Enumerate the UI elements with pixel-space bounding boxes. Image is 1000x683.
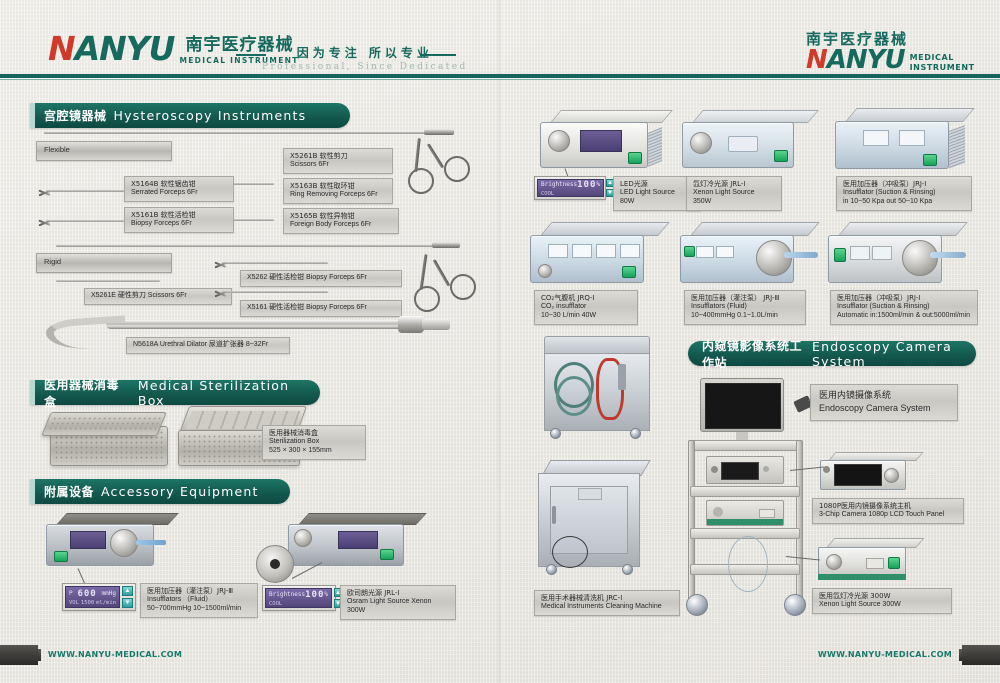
- accessory-en-0: Insufflators （Fluid）: [147, 596, 251, 605]
- page-spine: [498, 0, 504, 683]
- rigid-handle-ring-2: [450, 274, 476, 300]
- light-source-display: [759, 509, 775, 518]
- cleaner2-label: [578, 488, 602, 500]
- rigid-handle-arm-2: [433, 259, 450, 286]
- led-lcd-label2: COOL: [541, 191, 554, 197]
- r1-en-2: Insufflator (Suction & Rinsing): [843, 189, 965, 198]
- scope-ring-handle: [408, 136, 488, 206]
- caption-endoscopy-camera-system: 医用内镜摄像系统 Endoscopy Camera System: [810, 384, 958, 421]
- lcd-key-down[interactable]: ▼: [122, 598, 133, 608]
- co2-display-4: [620, 244, 640, 258]
- instrument-shaft-x5262: [222, 262, 328, 264]
- logo-right-letter-n: N: [806, 45, 827, 75]
- accessory-spec-0: 50~700mmHg 10~1500ml/min: [147, 605, 251, 614]
- item-code-1: X5164B: [131, 180, 158, 188]
- slogan-rule-right: [420, 54, 456, 56]
- rigid-handle-arm-1: [420, 254, 427, 290]
- item-cn-1: 软性锯齿钳: [161, 180, 196, 188]
- device-co2-insufflator: [530, 222, 670, 290]
- logo-right-line2: INSTRUMENT: [910, 63, 975, 73]
- caption-insufflator-suction-1: 医用加压器（冲吸泵）JRJ-Ⅰ Insufflator (Suction & R…: [836, 176, 972, 211]
- footer-right: WWW.NANYU-MEDICAL.COM 56: [811, 648, 980, 661]
- caption-insufflator-fluid-pump: 医用加压器（灌注泵） JRJ-Ⅲ Insufflators (Fluid) 10…: [684, 290, 806, 325]
- ccu-button[interactable]: [763, 466, 769, 472]
- accessory-spec-1: 300W: [347, 607, 449, 616]
- scope-connector: [424, 129, 454, 135]
- caption-cleaning-machine: 医用手术器械清洗机 JRC-Ⅰ Medical Instruments Clea…: [534, 590, 680, 616]
- lcd-callout-led: Brightness100% COOL ▲▼: [534, 176, 606, 200]
- r1-spec-0: 80W: [620, 198, 694, 207]
- r1-cn-1: 氙灯冷光源 JRL-Ⅰ: [693, 180, 775, 189]
- light-power-button[interactable]: [380, 549, 394, 560]
- r1-cn-0: LED光源: [620, 180, 694, 189]
- section-banner-accessory: 附属设备 Accessory Equipment: [30, 479, 290, 504]
- device-lcd: [70, 531, 106, 549]
- trolley-shelf-1: [690, 440, 800, 451]
- device-insufflator-fluid-pump: [680, 222, 830, 290]
- light-source-port: [713, 507, 723, 517]
- ins2-display-1: [850, 246, 870, 260]
- cleaner1-hose-coiled-2: [556, 376, 592, 416]
- banner-tab-3: [30, 479, 35, 504]
- handle-ring-1: [408, 168, 434, 194]
- section4-title-cn: 内窥镜影像系统工作站: [702, 337, 805, 371]
- device-led-light-source: [540, 110, 670, 174]
- device-power-button[interactable]: [54, 551, 68, 562]
- slogan-chinese: 因为专注 所以专业: [262, 44, 468, 61]
- endoscopy-trolley: [684, 378, 816, 622]
- sterilization-size: 525 × 300 × 155mm: [269, 447, 359, 456]
- banner-tab-2: [30, 380, 35, 405]
- item-code-2: X5163B: [290, 182, 317, 190]
- co2-display-3: [596, 244, 616, 258]
- r1-en-0: LED Light Source: [620, 189, 694, 198]
- trolley-post-left: [688, 440, 695, 602]
- rigid-item-text-3: N5618A Urethral Dilator 尿道扩张器 8~32Fr: [133, 341, 283, 350]
- xenon-light-port: [690, 132, 712, 154]
- sterilization-cn: 医用器械消毒盒: [269, 429, 359, 438]
- r2-spec-2: Automatic in:1500ml/min & out:5000ml/min: [837, 312, 971, 321]
- accessory-cn-0: 医用加压器（灌注泵）JRJ-Ⅲ: [147, 587, 251, 596]
- item-en-4: Foreign Body Forceps 6Fr: [290, 221, 392, 230]
- caption-insufflator-suction-2: 医用加压器（冲吸泵）JRJ-Ⅰ Insufflator (Suction & R…: [830, 290, 978, 325]
- section2-title-en: Medical Sterilization Box: [138, 378, 320, 408]
- group-label-flexible: Flexible: [36, 141, 172, 161]
- lcd-label2-0: VOL: [69, 600, 79, 606]
- trolley-post-right: [796, 440, 803, 602]
- rigid-scope-shaft: [56, 245, 444, 247]
- slogan-english: Professional, Since Dedicated: [262, 62, 468, 72]
- ccu-screen: [721, 462, 759, 480]
- accessory-en-1: Osram Light Source Xenon: [347, 598, 449, 607]
- handle-ring-2: [444, 156, 470, 182]
- cam-console-port: [884, 468, 899, 483]
- led-lcd-screen: Brightness100% COOL: [537, 179, 604, 197]
- rigid-item-text-0: X5262 硬性活检钳 Biopsy Forceps 6Fr: [247, 274, 395, 283]
- lcd-unit2-0: ml/min: [96, 600, 116, 606]
- co2-display-2: [572, 244, 592, 258]
- ccu-knob: [711, 466, 718, 473]
- device-fluid-port: [136, 540, 166, 545]
- device-insufflator-fluid: [46, 513, 176, 573]
- cleaner2-handle: [552, 506, 556, 524]
- co2-top: [540, 222, 670, 236]
- xenon300-port: [826, 554, 842, 570]
- logo-right-line1: MEDICAL: [910, 53, 975, 63]
- rigid-item-text-1: X5261E 硬性剪刀 Scissors 6Fr: [91, 292, 225, 301]
- cleaner2-caster-1: [546, 564, 557, 575]
- pump-display-2: [716, 246, 734, 258]
- instrument-shaft-serrated: [46, 190, 124, 192]
- section-banner-sterilization: 医用器械消毒盒 Medical Sterilization Box: [30, 380, 320, 405]
- logo-letter-n: N: [48, 29, 75, 68]
- sterilization-en: Sterilization Box: [269, 438, 359, 447]
- caption-xenon-light-source: 氙灯冷光源 JRL-Ⅰ Xenon Light Source 350W: [686, 176, 782, 211]
- caption-co2-insufflator: CO₂气腹机 JRQ-Ⅰ CO₂ insufflator 10~30 L/min…: [534, 290, 638, 325]
- led-lcd: [580, 130, 622, 152]
- caption-x5163b: X5163B 软性取环钳 Ring Removing Forceps 6Fr: [283, 178, 393, 204]
- instrument-shaft-biopsy-flex: [46, 220, 124, 222]
- brand-logo-right: 南宇医疗器械 NANYU MEDICAL INSTRUMENT: [806, 28, 975, 73]
- ins2-roller-head: [902, 240, 938, 276]
- box-lid: [41, 412, 167, 436]
- cleaner1-caster-1: [550, 428, 561, 439]
- cleaner1-spray-gun: [618, 364, 626, 390]
- caption-x5161b: X5161B 软性活检钳 Biopsy Forceps 6Fr: [124, 207, 234, 233]
- adapter-center: [270, 559, 280, 569]
- lcd-label-1: Brightness: [269, 591, 305, 598]
- r2-en-0: CO₂ insufflator: [541, 303, 631, 312]
- footer-url-right[interactable]: WWW.NANYU-MEDICAL.COM: [818, 650, 952, 659]
- cleaner2-caster-2: [622, 564, 633, 575]
- device-insufflator-suction-1: [835, 108, 975, 176]
- item-en-1: Serrated Forceps 6Fr: [131, 189, 227, 198]
- cleaner1-caster-2: [630, 428, 641, 439]
- xenon300-display: [866, 558, 884, 569]
- ins1-top: [845, 108, 975, 122]
- item-en-0: Scissors 6Fr: [290, 161, 386, 170]
- footer-bar-right: [962, 645, 1000, 665]
- device-knob: [110, 529, 138, 557]
- lcd-key-up[interactable]: ▲: [122, 586, 133, 596]
- r1-spec-2: in 10~50 Kpa out 50~10 Kpa: [843, 198, 965, 207]
- ins2-power-button[interactable]: [834, 248, 846, 262]
- sterilization-box-closed: [46, 412, 170, 468]
- device-xenon-300w: [818, 538, 930, 584]
- caption-n5618a: N5618A Urethral Dilator 尿道扩张器 8~32Fr: [126, 337, 290, 354]
- caption-x5261e: X5261E 硬性剪刀 Scissors 6Fr: [84, 288, 232, 305]
- ins2-tubing: [930, 252, 966, 258]
- r2-cn-2: 医用加压器（冲吸泵）JRJ-Ⅰ: [837, 294, 971, 303]
- caption-x5262: X5262 硬性活检钳 Biopsy Forceps 6Fr: [240, 270, 402, 287]
- item-cn-3: 软性活检钳: [161, 211, 196, 219]
- logo-letters-anyu: ANYU: [75, 29, 175, 68]
- camera-en-1: 3-Chip Camera 1080p LCD Touch Panel: [819, 511, 957, 520]
- lcd-callout-osram: Brightness100% COOL ▲▼: [262, 585, 336, 611]
- led-lcd-label: Brightness: [541, 181, 577, 188]
- monitor-stand-neck: [736, 432, 748, 440]
- device-insufflator-suction-2: [828, 222, 978, 290]
- pump-roller-head: [756, 240, 792, 276]
- device-1080p-camera-console: [820, 452, 930, 494]
- camera-en-2: Xenon Light Source 300W: [819, 601, 945, 610]
- section-banner-hysteroscopy: 宫腔镜器械 Hysteroscopy Instruments: [30, 103, 350, 128]
- caption-sterilization-box: 医用器械消毒盒 Sterilization Box 525 × 300 × 15…: [262, 425, 366, 460]
- handle-arm-2: [427, 143, 444, 168]
- r2-spec-0: 10~30 L/min 40W: [541, 312, 631, 321]
- light-output-port: [294, 529, 312, 547]
- light-device-lcd: [338, 531, 378, 549]
- device-xenon-light-source: [682, 110, 817, 174]
- item-cn-4: 软性异物钳: [320, 212, 355, 220]
- slogan-block: 因为专注 所以专业 Professional, Since Dedicated: [262, 44, 468, 72]
- lcd-unit-1: %: [324, 591, 328, 598]
- ins1-vent: [949, 125, 965, 169]
- dilator-hub: [422, 319, 450, 330]
- pump-tubing: [784, 252, 818, 258]
- r1-cn-2: 医用加压器（冲吸泵）JRJ-Ⅰ: [843, 180, 965, 189]
- pump-display-1: [696, 246, 714, 258]
- monitor-screen: [705, 383, 781, 429]
- lcd-unit-0: mmHg: [102, 590, 116, 597]
- xenon300-power-button[interactable]: [888, 557, 900, 569]
- caption-x5164b: X5164B 软性锯齿钳 Serrated Forceps 6Fr: [124, 176, 234, 202]
- caption-xenon-300w: 医用氙灯冷光源 300W Xenon Light Source 300W: [812, 588, 952, 614]
- caption-x5165b: X5165B 软性异物钳 Foreign Body Forceps 6Fr: [283, 208, 399, 234]
- dilator-body: [106, 320, 406, 329]
- r2-cn-1: 医用加压器（灌注泵） JRJ-Ⅲ: [691, 294, 799, 303]
- group-label-rigid: Rigid: [36, 253, 172, 273]
- r2-spec-1: 10~400mmHg 0.1~1.0L/min: [691, 312, 799, 321]
- section-title-en: Hysteroscopy Instruments: [114, 108, 307, 123]
- lcd-label2-1: COOL: [269, 601, 282, 607]
- trolley-caster-right: [784, 594, 806, 616]
- trolley-light-cable: [728, 536, 768, 592]
- accessory-cn-1: 欧司朗光源 JRL-Ⅰ: [347, 589, 449, 598]
- rigid-scope-ring-handle: [412, 250, 492, 320]
- item-cn-0: 软性剪刀: [320, 152, 348, 160]
- cleaner2-hose: [552, 536, 588, 568]
- lcd-screen: P600mmHg VOL1500ml/min: [65, 586, 120, 608]
- light-source-strip: [707, 519, 783, 525]
- r2-en-2: Insufflator (Suction & Rinsing): [837, 303, 971, 312]
- light-guide-adapter: [256, 545, 294, 583]
- camera-en-0: Endoscopy Camera System: [819, 403, 949, 415]
- xenon-control-panel: [728, 136, 758, 152]
- rigid-handle-ring-1: [414, 286, 440, 312]
- co2-gas-port: [538, 264, 552, 278]
- device-osram-light-source: [288, 513, 428, 573]
- dilator-curved-tip: [45, 315, 127, 352]
- handle-arm-1: [414, 138, 420, 172]
- cleaning-machine-open: [538, 336, 658, 446]
- lcd-value-0: 600: [77, 589, 96, 599]
- section2-title-cn: 医用器械消毒盒: [44, 376, 131, 410]
- cleaning-en: Medical Instruments Cleaning Machine: [541, 603, 673, 612]
- lcd-label-0: P: [69, 590, 73, 597]
- led-lcd-unit: %: [596, 181, 600, 188]
- camera-cn-1: 1080P医用内镜摄像系统主机: [819, 502, 957, 511]
- camera-cn-2: 医用氙灯冷光源 300W: [819, 592, 945, 601]
- footer-url-left[interactable]: WWW.NANYU-MEDICAL.COM: [48, 650, 182, 659]
- lcd-value2-0: 1500: [81, 600, 94, 606]
- caption-osram: 欧司朗光源 JRL-Ⅰ Osram Light Source Xenon 300…: [340, 585, 456, 620]
- trolley-light-source: [706, 500, 784, 526]
- xenon-power-button[interactable]: [774, 150, 788, 162]
- item-code-4: X5165B: [290, 212, 317, 220]
- banner-tab: [30, 103, 35, 128]
- lid-perforations: [47, 416, 161, 432]
- r1-spec-1: 350W: [693, 198, 775, 207]
- item-cn-2: 软性取环钳: [320, 182, 355, 190]
- section4-title-en: Endoscopy Camera System: [812, 339, 976, 369]
- rigid-scope-connector: [432, 242, 460, 248]
- section-title-cn: 宫腔镜器械: [44, 107, 107, 124]
- cleaning-machine-closed: [538, 460, 662, 584]
- lcd-keys[interactable]: ▲▼: [122, 586, 133, 608]
- caption-1080p-camera: 1080P医用内镜摄像系统主机 3-Chip Camera 1080p LCD …: [812, 498, 964, 524]
- item-en-2: Ring Removing Forceps 6Fr: [290, 191, 386, 200]
- cam-console-button[interactable]: [823, 466, 830, 473]
- osram-lcd-screen: Brightness100% COOL: [265, 588, 332, 608]
- logo-right-letters: ANYU: [827, 45, 905, 75]
- item-code-0: X5261B: [290, 152, 317, 160]
- pump-power-button[interactable]: [684, 246, 695, 257]
- ins1-display-1: [863, 130, 889, 146]
- page-header: NANYU 南宇医疗器械 MEDICAL INSTRUMENT 因为专注 所以专…: [0, 0, 1000, 84]
- section-banner-camera-system: 内窥镜影像系统工作站 Endoscopy Camera System: [688, 341, 976, 366]
- cleaning-cn: 医用手术器械清洗机 JRC-Ⅰ: [541, 594, 673, 603]
- section3-title-cn: 附属设备: [44, 483, 94, 500]
- xenon300-strip: [818, 574, 906, 580]
- trolley-monitor: [700, 378, 784, 432]
- item-en-3: Biopsy Forceps 6Fr: [131, 220, 227, 229]
- trolley-caster-left: [686, 594, 708, 616]
- pump-top: [690, 222, 820, 236]
- instrument-shaft-x5261e: [56, 280, 160, 282]
- trolley-shelf-2: [690, 486, 800, 497]
- led-vent: [648, 127, 662, 167]
- led-knob: [548, 130, 570, 152]
- dilator-collar: [398, 316, 424, 333]
- led-power-button[interactable]: [628, 152, 642, 164]
- header-divider: [0, 74, 1000, 78]
- instrument-shaft-x5161: [222, 291, 328, 293]
- co2-power-button[interactable]: [622, 266, 636, 278]
- camera-cn-0: 医用内镜摄像系统: [819, 391, 949, 403]
- item-code-3: X5161B: [131, 211, 158, 219]
- ins2-top: [838, 222, 968, 236]
- r2-cn-0: CO₂气腹机 JRQ-Ⅰ: [541, 294, 631, 303]
- footer-bar-left: [0, 645, 38, 665]
- led-lcd-value: 100: [577, 180, 596, 190]
- r1-en-1: Xenon Light Source: [693, 189, 775, 198]
- r2-en-1: Insufflators (Fluid): [691, 303, 799, 312]
- caption-insufflator-fluid: 医用加压器（灌注泵）JRJ-Ⅲ Insufflators （Fluid） 50~…: [140, 583, 258, 618]
- camera-control-unit: [706, 456, 784, 484]
- header-divider-thin: [0, 79, 1000, 80]
- ins1-power-button[interactable]: [923, 154, 937, 166]
- footer-left: 55 WWW.NANYU-MEDICAL.COM: [20, 648, 189, 661]
- lcd-callout-insufflator: P600mmHg VOL1500ml/min ▲▼: [62, 583, 136, 611]
- cam-console-screen: [834, 464, 882, 486]
- ins1-display-2: [899, 130, 925, 146]
- catalog-page: NANYU 南宇医疗器械 MEDICAL INSTRUMENT 因为专注 所以专…: [0, 0, 1000, 683]
- flexible-scope-shaft: [44, 132, 434, 134]
- caption-x5261b: X5261B 软性剪刀 Scissors 6Fr: [283, 148, 393, 174]
- co2-display-1: [548, 244, 568, 258]
- lcd-value-1: 100: [305, 590, 324, 600]
- ins2-display-2: [872, 246, 892, 260]
- section3-title-en: Accessory Equipment: [101, 484, 259, 499]
